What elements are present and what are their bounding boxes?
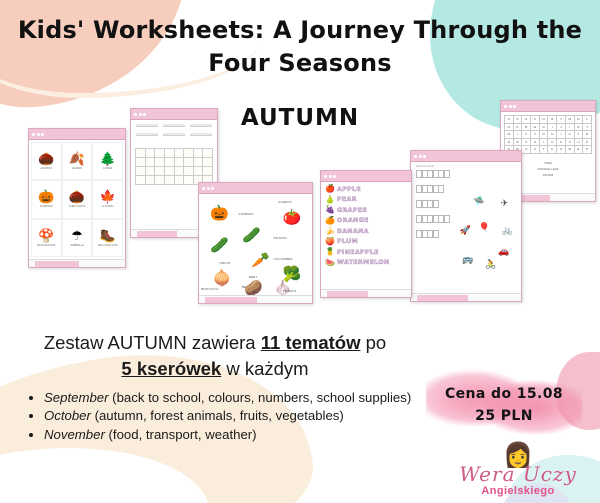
window-dot-icon: [41, 133, 44, 136]
month-bullet-list: September (back to school, colours, numb…: [30, 389, 430, 444]
letter-box: [444, 215, 450, 223]
word-search-cell: D: [540, 131, 549, 139]
table-cell: [155, 167, 165, 176]
word-search-cell: T: [531, 131, 540, 139]
vegetable-label: PUMPKIN: [239, 212, 254, 216]
table-cell: [136, 158, 146, 167]
letter-table: [135, 148, 213, 185]
vocabulary-caption: CHESTNUTS: [69, 205, 86, 208]
price-valid-until: Cena do 15.08: [426, 384, 582, 406]
vegetable-icon: 🥔: [244, 281, 263, 295]
letter-box-row: [416, 200, 457, 208]
vegetable-label: ONION: [219, 261, 230, 265]
vocabulary-cell: 🎃PUMPKIN: [31, 180, 62, 218]
transport-picture-icon: 🚴: [485, 260, 496, 269]
table-cell: [155, 176, 165, 185]
table-cell: [175, 149, 185, 158]
vocabulary-caption: UMBRELLA: [70, 244, 85, 247]
table-cell: [146, 149, 156, 158]
word-search-cell: P: [583, 146, 592, 154]
word-search-cell: I: [557, 131, 566, 139]
table-cell: [194, 158, 204, 167]
word-search-cell: A: [531, 139, 540, 147]
vegetable-icon: 🥒: [210, 238, 229, 253]
fruit-word: PLUM: [337, 238, 358, 245]
fruit-icon: 🍑: [325, 238, 334, 246]
word-search-cell: C: [531, 146, 540, 154]
transport-picture-icon: 🛸: [474, 197, 485, 206]
table-cell: [165, 149, 175, 158]
title-line-2: Four Seasons: [0, 47, 600, 80]
fruit-word-list: 🍎APPLE🍐PEAR🍇GRAPES🍊ORANGE🍌BANANA🍑PLUM🍍PI…: [321, 182, 411, 267]
fruit-row: 🍉WATERMELON: [325, 259, 408, 267]
vegetable-label: TOMATO: [283, 289, 297, 293]
month-detail: (back to school, colours, numbers, schoo…: [109, 390, 412, 405]
vocabulary-image-icon: ☂: [71, 229, 83, 242]
description-line-2: 5 kserówek w każdym: [0, 356, 430, 382]
word-search-cell: T: [540, 146, 549, 154]
word-search-cell: E: [575, 146, 584, 154]
word-search-cell: H: [575, 139, 584, 147]
fruit-word: GRAPES: [337, 207, 367, 214]
vocabulary-cell: 🥾WELLINGTONS: [92, 219, 123, 257]
table-cell: [165, 158, 175, 167]
month-detail: (autumn, forest animals, fruits, vegetab…: [91, 408, 344, 423]
vocabulary-caption: AUTUMN: [102, 205, 114, 208]
fruit-icon: 🍌: [325, 227, 334, 235]
fruit-icon: 🍍: [325, 248, 334, 256]
fruit-row: 🍇GRAPES: [325, 206, 408, 214]
transport-picture-icon: 🎈: [479, 223, 490, 232]
brand-logo: 👩 Wera Uczy Angielskiego: [448, 444, 588, 497]
vocabulary-grid: 🌰ACORNS🍂LEAVES🌲CONES🎃PUMPKIN🌰CHESTNUTS🍁A…: [29, 140, 125, 259]
worksheet-transport[interactable]: Write the words 🛸✈🚀🎈🚲🚗🚌🚴: [410, 150, 522, 302]
vegetable-picture-area: 🎃PUMPKIN🍅CARROT🥒POTATO🥒CUCUMBER🥕ONION🥦BE…: [199, 194, 312, 295]
fruit-row: 🍐PEAR: [325, 196, 408, 204]
table-cell: [203, 167, 213, 176]
tracing-row: [136, 133, 212, 136]
window-body: 🍎APPLE🍐PEAR🍇GRAPES🍊ORANGE🍌BANANA🍑PLUM🍍PI…: [321, 182, 411, 289]
table-cell: [184, 176, 194, 185]
window-body: 🌰ACORNS🍂LEAVES🌲CONES🎃PUMPKIN🌰CHESTNUTS🍁A…: [29, 140, 125, 259]
desc-text-a: Zestaw AUTUMN zawiera: [44, 332, 261, 353]
window-dot-icon: [333, 175, 336, 178]
table-cell: [184, 149, 194, 158]
letter-box-row: [416, 215, 457, 223]
desc-highlight-topics: 11 tematów: [261, 332, 361, 353]
window-dot-icon: [37, 133, 40, 136]
page-subtitle: AUTUMN: [0, 105, 600, 131]
table-cell: [136, 176, 146, 185]
vocabulary-image-icon: 🌲: [100, 152, 116, 165]
title-line-1: Kids' Worksheets: A Journey Through the: [18, 16, 582, 44]
table-cell: [175, 167, 185, 176]
transport-picture-icon: ✈: [501, 199, 509, 208]
table-cell: [136, 167, 146, 176]
vocabulary-image-icon: 🌰: [38, 152, 54, 165]
fruit-icon: 🍐: [325, 196, 334, 204]
vegetable-label: CUCUMBER: [274, 257, 293, 261]
vocabulary-image-icon: 🍁: [100, 190, 116, 203]
price-badge: Cena do 15.08 25 PLN: [426, 368, 582, 440]
window-dot-icon: [329, 175, 332, 178]
window-dot-icon: [211, 187, 214, 190]
word-search-cell: F: [522, 131, 531, 139]
table-cell: [203, 149, 213, 158]
desc-text-c: po: [360, 332, 386, 353]
table-cell: [136, 149, 146, 158]
vocabulary-image-icon: 🌰: [69, 190, 85, 203]
tracing-word-slot: [190, 133, 212, 136]
table-cell: [146, 167, 156, 176]
fruit-icon: 🍉: [325, 259, 334, 267]
letter-box-row: [416, 170, 457, 178]
letter-box-rows: [411, 170, 457, 291]
vocabulary-cell: 🌰ACORNS: [31, 142, 62, 180]
table-cell: [194, 167, 204, 176]
vegetable-icon: 🧅: [213, 271, 232, 286]
price-amount: 25 PLN: [426, 406, 582, 428]
word-search-cell: I: [514, 131, 523, 139]
word-search-cell: R: [583, 131, 592, 139]
scrollbar-thumb[interactable]: [205, 297, 257, 303]
fruit-word: PEAR: [337, 196, 357, 203]
vegetable-label: CARROT: [278, 200, 292, 204]
scrollbar-thumb[interactable]: [35, 261, 79, 267]
table-cell: [146, 158, 156, 167]
word-search-cell: E: [505, 139, 514, 147]
word-search-cell: R: [514, 139, 523, 147]
fruit-row: 🍍PINEAPPLE: [325, 248, 408, 256]
word-search-cell: T: [575, 131, 584, 139]
word-search-cell: S: [557, 146, 566, 154]
window-scrollbar[interactable]: [199, 295, 312, 303]
fruit-row: 🍌BANANA: [325, 227, 408, 235]
vocabulary-caption: PUMPKIN: [40, 205, 53, 208]
vegetable-icon: 🥒: [242, 228, 261, 243]
scrollbar-thumb[interactable]: [327, 291, 368, 297]
month-bullet-item: November (food, transport, weather): [44, 426, 430, 444]
fruit-icon: 🍇: [325, 206, 334, 214]
fruit-icon: 🍎: [325, 185, 334, 193]
fruit-word: PINEAPPLE: [337, 249, 379, 256]
transport-pictures: 🛸✈🚀🎈🚲🚗🚌🚴: [457, 170, 521, 291]
transport-picture-icon: 🚲: [502, 226, 513, 235]
fruit-row: 🍑PLUM: [325, 238, 408, 246]
vocabulary-cell: 🌲CONES: [92, 142, 123, 180]
worksheet-instructions: Write the words: [411, 162, 521, 170]
month-name: November: [44, 427, 105, 442]
logo-subtitle-text: Angielskiego: [448, 485, 588, 497]
fruit-row: 🍎APPLE: [325, 185, 408, 193]
table-cell: [175, 158, 185, 167]
fruit-word: WATERMELON: [337, 259, 390, 266]
scrollbar-thumb[interactable]: [417, 295, 468, 301]
vocabulary-image-icon: 🍄: [38, 229, 54, 242]
table-cell: [155, 149, 165, 158]
vocabulary-image-icon: 🎃: [38, 190, 54, 203]
word-search-cell: F: [548, 146, 557, 154]
poster-canvas: Kids' Worksheets: A Journey Through the …: [0, 0, 600, 503]
letter-box: [433, 230, 439, 238]
vocabulary-cell: 🌰CHESTNUTS: [62, 180, 93, 218]
letter-box: [433, 200, 439, 208]
window-dot-icon: [202, 187, 205, 190]
vocabulary-caption: ACORNS: [40, 167, 52, 170]
window-scrollbar[interactable]: [29, 259, 125, 267]
word-search-cell: X: [566, 139, 575, 147]
vocabulary-caption: LEAVES: [72, 167, 83, 170]
month-bullet-item: October (autumn, forest animals, fruits,…: [44, 407, 430, 425]
vocabulary-caption: MUSHROOMS: [37, 244, 55, 247]
fruit-word: BANANA: [337, 228, 369, 235]
vegetable-label: POTATO: [274, 236, 287, 240]
table-cell: [175, 176, 185, 185]
letter-box: [438, 185, 444, 193]
window-dot-icon: [324, 175, 327, 178]
word-search-cell: V: [522, 139, 531, 147]
month-detail: (food, transport, weather): [105, 427, 257, 442]
window-body: Write the words 🛸✈🚀🎈🚲🚗🚌🚴: [411, 162, 521, 293]
letter-box: [444, 170, 450, 178]
worksheet-fruits[interactable]: 🍎APPLE🍐PEAR🍇GRAPES🍊ORANGE🍌BANANA🍑PLUM🍍PI…: [320, 170, 412, 298]
word-search-cell: C: [566, 131, 575, 139]
window-dot-icon: [32, 133, 35, 136]
worksheet-autumn-vocabulary[interactable]: 🌰ACORNS🍂LEAVES🌲CONES🎃PUMPKIN🌰CHESTNUTS🍁A…: [28, 128, 126, 268]
word-search-cell: H: [548, 131, 557, 139]
table-cell: [194, 149, 204, 158]
vegetable-icon: 🍅: [283, 210, 302, 225]
window-dot-icon: [419, 155, 422, 158]
window-titlebar: [321, 171, 411, 182]
month-bullet-item: September (back to school, colours, numb…: [44, 389, 430, 407]
vocabulary-cell: 🍁AUTUMN: [92, 180, 123, 218]
table-cell: [203, 158, 213, 167]
vocabulary-cell: ☂UMBRELLA: [62, 219, 93, 257]
fruit-icon: 🍊: [325, 217, 334, 225]
vocabulary-caption: CONES: [103, 167, 113, 170]
word-search-cell: W: [505, 131, 514, 139]
window-scrollbar[interactable]: [411, 293, 521, 301]
fruit-word: ORANGE: [337, 217, 369, 224]
description-block: Zestaw AUTUMN zawiera 11 tematów po 5 ks…: [0, 330, 430, 444]
vocabulary-image-icon: 🥾: [100, 229, 116, 242]
word-search-cell: P: [583, 139, 592, 147]
window-titlebar: [199, 183, 312, 194]
letter-box-row: [416, 230, 457, 238]
scrollbar-thumb[interactable]: [137, 231, 177, 237]
month-name: September: [44, 390, 109, 405]
table-cell: [155, 158, 165, 167]
table-cell: [184, 167, 194, 176]
window-scrollbar[interactable]: [321, 289, 411, 297]
transport-picture-icon: 🚀: [460, 226, 471, 235]
vegetable-label: BEET: [249, 275, 258, 279]
window-dot-icon: [207, 187, 210, 190]
vegetable-icon: 🎃: [210, 206, 229, 221]
transport-picture-icon: 🚌: [462, 255, 473, 264]
worksheet-vegetables[interactable]: 🎃PUMPKIN🍅CARROT🥒POTATO🥒CUCUMBER🥕ONION🥦BE…: [198, 182, 313, 304]
window-body: 🎃PUMPKIN🍅CARROT🥒POTATO🥒CUCUMBER🥕ONION🥦BE…: [199, 194, 312, 295]
window-titlebar: [411, 151, 521, 162]
month-name: October: [44, 408, 91, 423]
vegetable-label: BROCCOLI: [201, 287, 218, 291]
word-search-cell: U: [548, 139, 557, 147]
vocabulary-caption: WELLINGTONS: [98, 244, 118, 247]
logo-script-text: Wera Uczy: [448, 464, 588, 484]
table-cell: [184, 158, 194, 167]
vocabulary-cell: 🍂LEAVES: [62, 142, 93, 180]
word-search-cell: G: [522, 146, 531, 154]
description-line-1: Zestaw AUTUMN zawiera 11 tematów po: [0, 330, 430, 356]
word-search-cell: W: [566, 146, 575, 154]
tracing-word-slot: [163, 133, 185, 136]
table-cell: [165, 176, 175, 185]
table-cell: [146, 176, 156, 185]
window-dot-icon: [414, 155, 417, 158]
desc-text-d: w każdym: [221, 358, 308, 379]
fruit-row: 🍊ORANGE: [325, 217, 408, 225]
word-search-cell: F: [557, 139, 566, 147]
page-title: Kids' Worksheets: A Journey Through the …: [0, 14, 600, 80]
transport-picture-icon: 🚗: [498, 247, 509, 256]
fruit-word: APPLE: [337, 186, 361, 193]
word-search-cell: I: [540, 139, 549, 147]
tracing-word-slot: [136, 133, 158, 136]
price-badge-text: Cena do 15.08 25 PLN: [426, 368, 582, 427]
letter-box-row: [416, 185, 457, 193]
vegetable-icon: 🥕: [251, 253, 270, 268]
desc-highlight-copies: 5 kserówek: [121, 358, 221, 379]
table-cell: [165, 167, 175, 176]
vocabulary-cell: 🍄MUSHROOMS: [31, 219, 62, 257]
vocabulary-image-icon: 🍂: [69, 152, 85, 165]
window-dot-icon: [423, 155, 426, 158]
